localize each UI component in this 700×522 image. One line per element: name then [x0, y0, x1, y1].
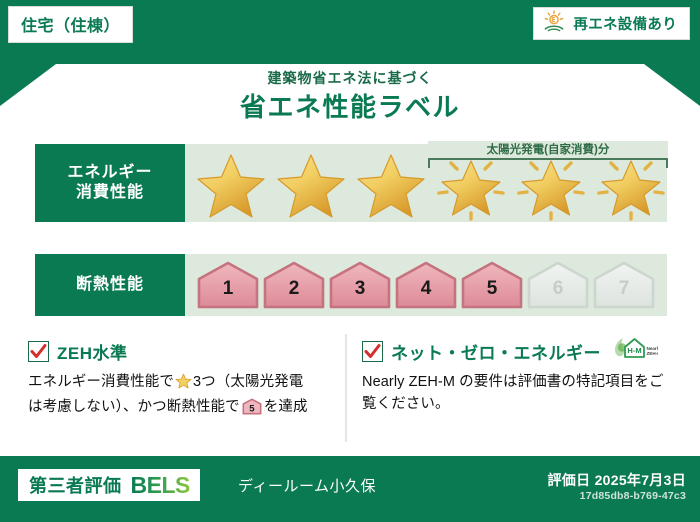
evaluation-date-value: 2025年7月3日: [595, 472, 686, 488]
star-rating: [185, 144, 667, 222]
net-zero-title: ネット・ゼロ・エネルギー: [391, 339, 601, 364]
net-zero-checkbox[interactable]: [362, 341, 383, 362]
zeh-criteria-block: ZEH水準 エネルギー消費性能で3つ（太陽光発電 は考慮しない）、かつ断熱性能で…: [28, 338, 338, 422]
star-icon: [191, 145, 271, 221]
solar-star-icon: [511, 145, 591, 221]
insulation-level-value: 6: [553, 278, 564, 309]
evaluation-date: 評価日 2025年7月3日: [547, 470, 686, 490]
third-party-label: 第三者評価: [29, 472, 122, 498]
net-zero-description: Nearly ZEH-M の要件は評価書の特記項目をご覧ください。: [362, 371, 672, 415]
insulation-performance-label: 断熱性能: [35, 254, 185, 316]
insulation-level-value: 1: [223, 278, 234, 309]
insulation-level-value: 4: [421, 278, 432, 309]
zeh-checkbox[interactable]: [28, 341, 49, 362]
zeh-description: エネルギー消費性能で3つ（太陽光発電 は考慮しない）、かつ断熱性能で5を達成: [28, 371, 338, 422]
svg-text:H-M: H-M: [627, 346, 641, 355]
insulation-level-marker: 1: [197, 261, 259, 309]
energy-label-line1: エネルギー: [67, 163, 152, 183]
sun-renewable-icon: [542, 10, 566, 37]
insulation-level-value: 3: [355, 278, 366, 309]
svg-text:5: 5: [249, 404, 255, 415]
star-icon: [351, 145, 431, 221]
bels-certification-badge: 第三者評価 BELS: [18, 469, 200, 501]
zeh-desc-stars: 3つ（太陽光発電: [193, 374, 303, 390]
insulation-level-marker: 3: [329, 261, 391, 309]
zeh-desc-part2: は考慮しない）、かつ断熱性能で: [28, 399, 240, 415]
insulation-level-marker: 5: [461, 261, 523, 309]
insulation-level-value: 5: [487, 278, 498, 309]
building-type-tag: 住宅（住棟）: [8, 6, 133, 43]
insulation-level-marker: 4: [395, 261, 457, 309]
bels-logo-label: BELS: [131, 474, 190, 497]
label-content-sheet: 建築物省エネ法に基づく 省エネ性能ラベル エネルギー 消費性能 太陽光発電(自家…: [0, 46, 700, 456]
solar-star-icon: [591, 145, 671, 221]
insulation-performance-row: 断熱性能 1: [35, 254, 667, 316]
inline-house-5-icon: 5: [242, 403, 262, 419]
insulation-level-scale: 1 2 3: [185, 254, 667, 316]
zeh-title: ZEH水準: [57, 339, 128, 364]
evaluation-id: 17d85db8-b769-47c3: [580, 490, 686, 502]
net-zero-criteria-block: ネット・ゼロ・エネルギー H-M Nearly ZEH-M Nearly ZEH…: [362, 338, 672, 415]
page-title: 省エネ性能ラベル: [0, 87, 700, 124]
zeh-desc-part1: エネルギー消費性能で: [28, 374, 174, 390]
label-subtitle: 建築物省エネ法に基づく: [0, 68, 700, 88]
evaluation-date-label: 評価日: [547, 472, 590, 488]
insulation-level-marker: 7: [593, 261, 655, 309]
energy-performance-label: エネルギー 消費性能: [35, 144, 185, 222]
insulation-level-area: 1 2 3: [185, 254, 667, 316]
energy-label-line2: 消費性能: [76, 183, 144, 203]
inline-star-icon: [175, 377, 192, 393]
insulation-level-value: 2: [289, 278, 300, 309]
insulation-level-marker: 2: [263, 261, 325, 309]
insulation-level-marker: 6: [527, 261, 589, 309]
energy-performance-row: エネルギー 消費性能 太陽光発電(自家消費)分: [35, 144, 667, 222]
footer-bar: 第三者評価 BELS ディールーム小久保 評価日 2025年7月3日 17d85…: [0, 456, 700, 522]
renewable-badge-label: 再エネ設備あり: [573, 13, 677, 34]
solar-star-icon: [431, 145, 511, 221]
star-icon: [271, 145, 351, 221]
renewable-energy-badge: 再エネ設備あり: [533, 7, 690, 40]
svg-text:ZEH-M: ZEH-M: [647, 351, 659, 356]
energy-star-area: 太陽光発電(自家消費)分: [185, 144, 667, 222]
zeh-desc-part3: を達成: [264, 399, 308, 415]
zeh-m-logo-icon: H-M Nearly ZEH-M: [612, 336, 658, 367]
property-name: ディールーム小久保: [238, 475, 376, 496]
insulation-level-value: 7: [619, 278, 630, 309]
criteria-section: ZEH水準 エネルギー消費性能で3つ（太陽光発電 は考慮しない）、かつ断熱性能で…: [0, 338, 700, 438]
